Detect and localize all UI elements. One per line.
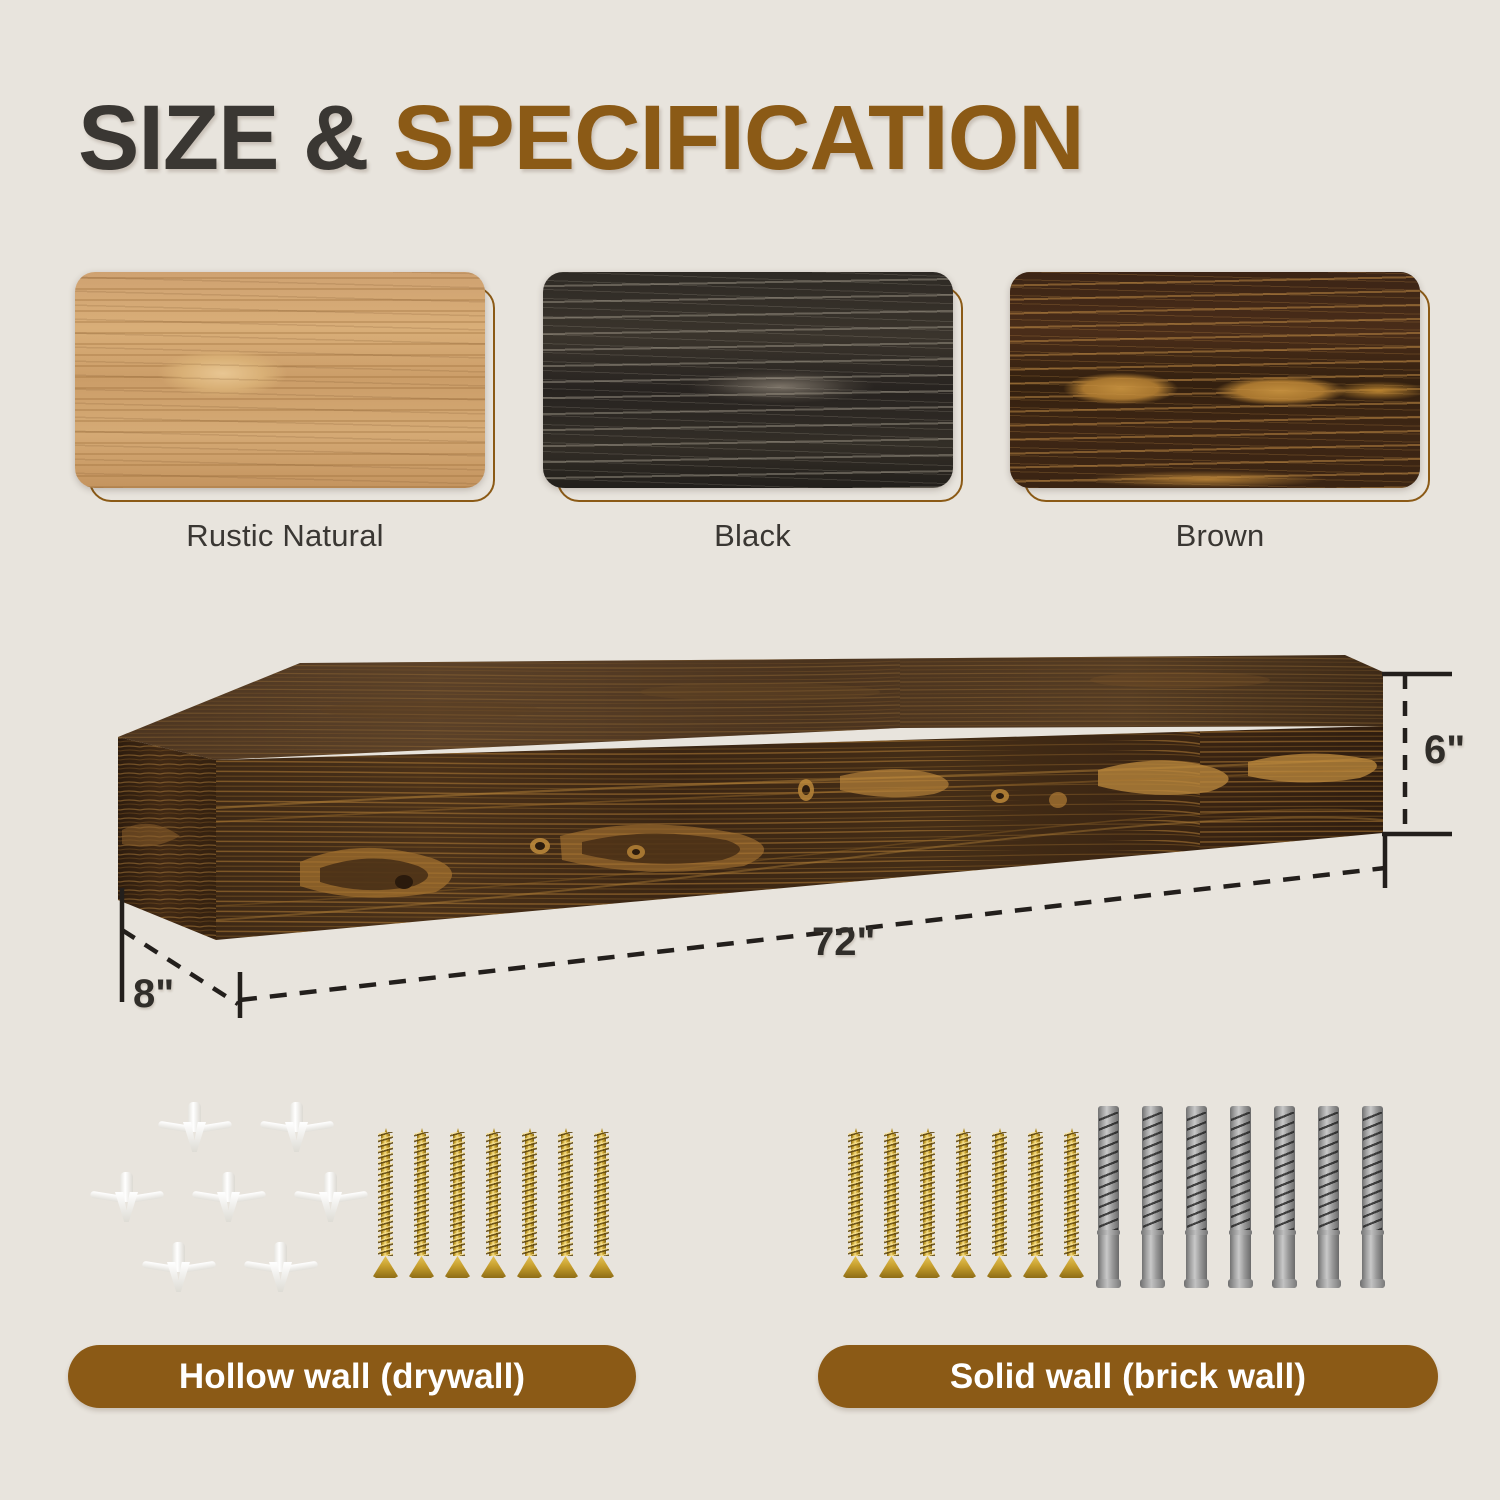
wood-screw-icon (414, 1128, 429, 1278)
swatch-image-rustic-natural (75, 272, 485, 488)
page-title: SIZE & SPECIFICATION (78, 92, 1084, 184)
solid-wall-screw-group (848, 1128, 1079, 1278)
expansion-wall-plug-icon (1362, 1106, 1383, 1288)
wood-texture-black (543, 272, 953, 488)
toggle-anchor-icon (260, 1100, 334, 1156)
wood-screw-icon (1028, 1128, 1043, 1278)
page-title-part2: SPECIFICATION (393, 87, 1084, 189)
finish-option-brown[interactable]: Brown (1010, 272, 1430, 554)
wood-screw-icon (522, 1128, 537, 1278)
solid-wall-pill: Solid wall (brick wall) (818, 1345, 1438, 1408)
wood-screw-icon (884, 1128, 899, 1278)
hollow-wall-screw-group (378, 1128, 609, 1278)
finish-label-brown: Brown (1010, 518, 1430, 554)
expansion-wall-plug-icon (1098, 1106, 1119, 1288)
wood-screw-icon (1064, 1128, 1079, 1278)
dimension-label-length: 72" (812, 920, 875, 965)
toggle-anchor-icon (244, 1240, 318, 1296)
wood-screw-icon (992, 1128, 1007, 1278)
expansion-wall-plug-icon (1142, 1106, 1163, 1288)
finish-option-rustic-natural[interactable]: Rustic Natural (75, 272, 495, 554)
toggle-anchor-icon (158, 1100, 232, 1156)
expansion-wall-plug-icon (1230, 1106, 1251, 1288)
wood-texture-rustic-natural (75, 272, 485, 488)
wood-screw-icon (956, 1128, 971, 1278)
wall-plug-group (1098, 1106, 1383, 1288)
wood-screw-icon (920, 1128, 935, 1278)
toggle-anchor-icon (192, 1170, 266, 1226)
expansion-wall-plug-icon (1318, 1106, 1339, 1288)
hollow-wall-pill: Hollow wall (drywall) (68, 1345, 636, 1408)
wood-screw-icon (594, 1128, 609, 1278)
finish-option-black[interactable]: Black (543, 272, 963, 554)
toggle-anchor-icon (294, 1170, 368, 1226)
toggle-anchor-group (70, 1100, 390, 1300)
finish-label-black: Black (543, 518, 963, 554)
wood-screw-icon (558, 1128, 573, 1278)
dimension-label-depth: 8" (133, 972, 174, 1017)
finish-swatch-row: Rustic Natural Black Brown (75, 272, 1430, 554)
toggle-anchor-icon (142, 1240, 216, 1296)
wood-texture-brown (1010, 272, 1420, 488)
swatch-image-brown (1010, 272, 1420, 488)
expansion-wall-plug-icon (1186, 1106, 1207, 1288)
dimension-lines (0, 600, 1500, 1060)
expansion-wall-plug-icon (1274, 1106, 1295, 1288)
swatch-image-black (543, 272, 953, 488)
wood-screw-icon (450, 1128, 465, 1278)
toggle-anchor-icon (90, 1170, 164, 1226)
dimension-label-height: 6" (1424, 728, 1465, 773)
wood-screw-icon (848, 1128, 863, 1278)
wood-screw-icon (486, 1128, 501, 1278)
page-title-part1: SIZE & (78, 87, 368, 189)
finish-label-rustic-natural: Rustic Natural (75, 518, 495, 554)
wood-screw-icon (378, 1128, 393, 1278)
product-dimension-diagram: 72" 8" 6" (0, 600, 1500, 1060)
